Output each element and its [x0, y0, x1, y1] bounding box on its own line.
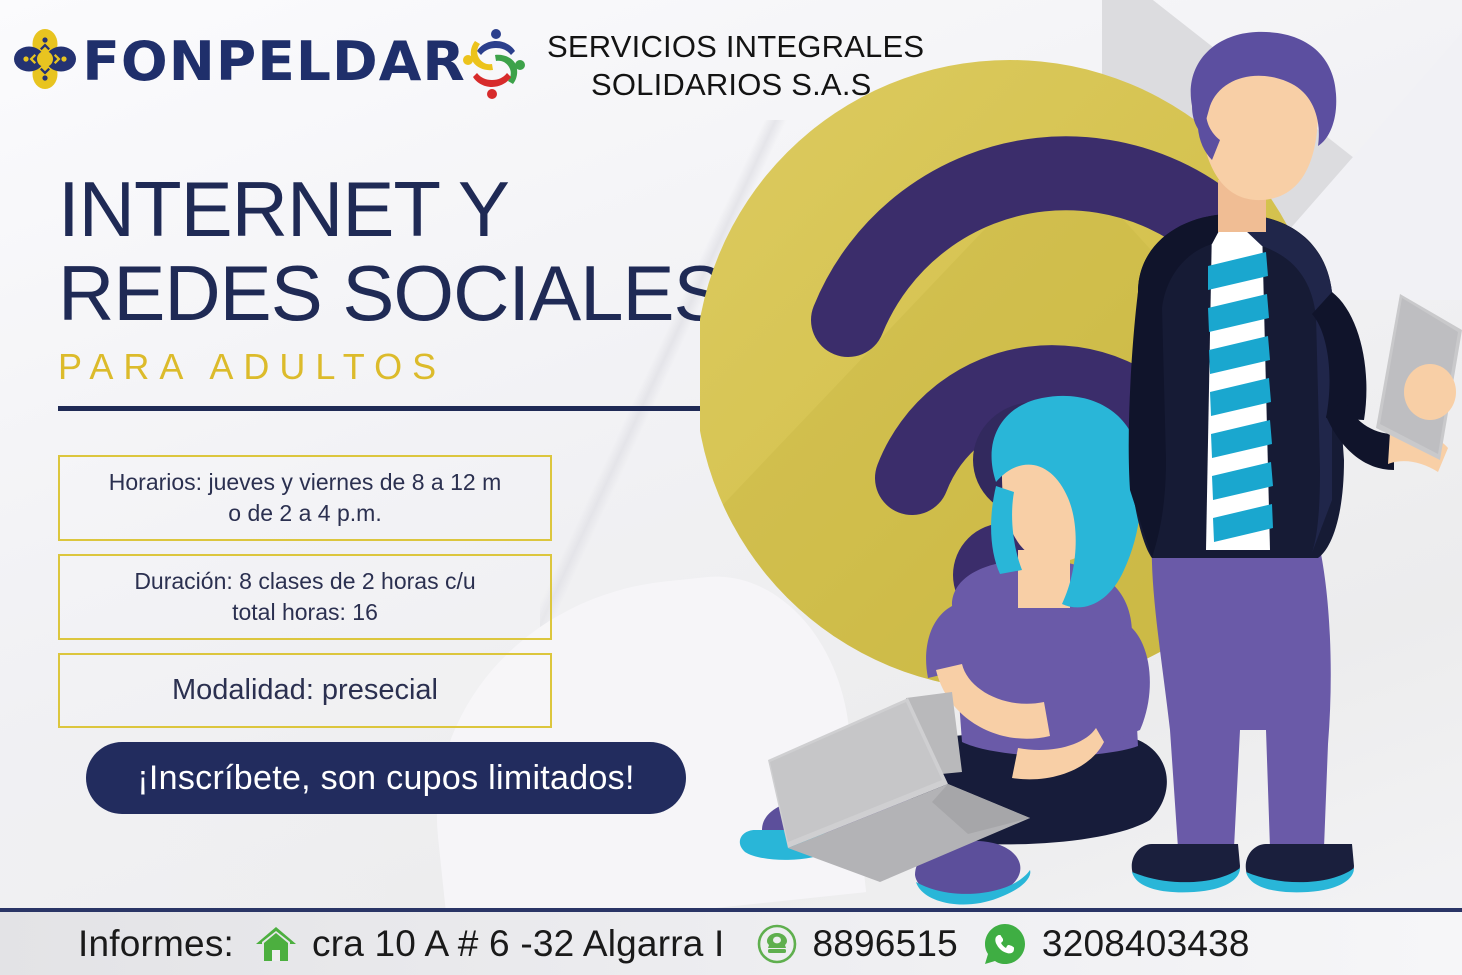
footer-whatsapp-number: 3208403438: [1042, 923, 1250, 965]
page-title-line2: REDES SOCIALES: [58, 256, 738, 330]
home-icon: [254, 922, 298, 966]
footer-contact-bar: Informes: cra 10 A # 6 -32 Algarra I 889…: [0, 908, 1462, 975]
footer-label: Informes:: [78, 923, 234, 965]
info-box-list: Horarios: jueves y viernes de 8 a 12 m o…: [58, 455, 552, 741]
whatsapp-icon[interactable]: [982, 921, 1028, 967]
page-title-line1: INTERNET Y: [58, 172, 738, 246]
footer-phone-number: 8896515: [812, 923, 957, 965]
title-divider: [58, 406, 700, 411]
enroll-cta-button[interactable]: ¡Inscríbete, son cupos limitados!: [86, 742, 686, 814]
hero-illustration: [700, 30, 1462, 910]
headline-block: INTERNET Y REDES SOCIALES PARA ADULTOS: [58, 172, 738, 411]
fonpeldar-logo: FONPELDAR: [14, 28, 462, 95]
footer-address: cra 10 A # 6 -32 Algarra I: [312, 923, 724, 965]
page-subtitle: PARA ADULTOS: [58, 346, 738, 388]
four-petal-flower-logo-icon: [14, 28, 76, 95]
telephone-icon[interactable]: [756, 923, 798, 965]
info-box-modality: Modalidad: presecial: [58, 653, 552, 728]
four-people-circle-logo-icon: [455, 22, 533, 113]
info-box-schedule: Horarios: jueves y viernes de 8 a 12 m o…: [58, 455, 552, 541]
fonpeldar-wordmark: FONPELDAR: [82, 30, 466, 93]
poster-canvas: FONPELDAR: [0, 0, 1462, 975]
info-box-duration: Duración: 8 clases de 2 horas c/u total …: [58, 554, 552, 640]
